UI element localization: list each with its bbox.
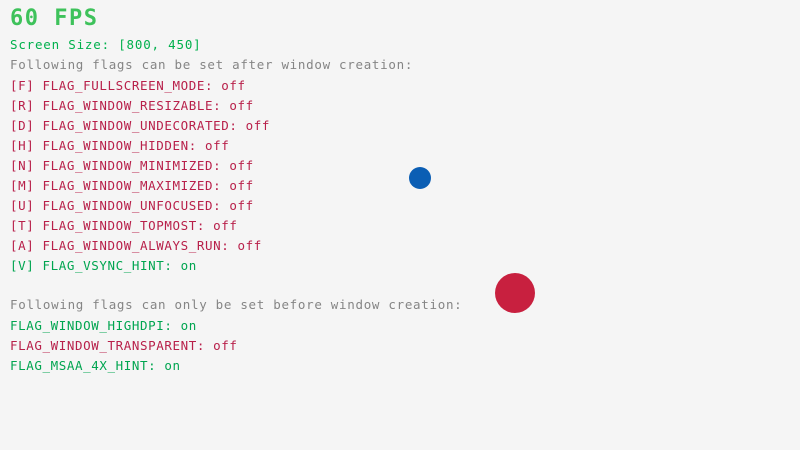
runtime-flags-header: Following flags can be set after window …	[10, 58, 413, 72]
app-canvas: 60 FPS Screen Size: [800, 450] Following…	[0, 0, 800, 450]
startup-flags-header: Following flags can only be set before w…	[10, 298, 462, 312]
flag-row-flag-window-unfocused[interactable]: [U] FLAG_WINDOW_UNFOCUSED: off	[10, 199, 254, 213]
red-circle	[495, 273, 535, 313]
flag-row-flag-window-highdpi[interactable]: FLAG_WINDOW_HIGHDPI: on	[10, 319, 197, 333]
flag-row-flag-vsync-hint[interactable]: [V] FLAG_VSYNC_HINT: on	[10, 259, 197, 273]
flag-row-flag-window-resizable[interactable]: [R] FLAG_WINDOW_RESIZABLE: off	[10, 99, 254, 113]
flag-row-flag-fullscreen-mode[interactable]: [F] FLAG_FULLSCREEN_MODE: off	[10, 79, 246, 93]
flag-row-flag-window-topmost[interactable]: [T] FLAG_WINDOW_TOPMOST: off	[10, 219, 238, 233]
fps-counter: 60 FPS	[10, 6, 98, 32]
flag-row-flag-msaa-4x-hint[interactable]: FLAG_MSAA_4X_HINT: on	[10, 359, 181, 373]
flag-row-flag-window-hidden[interactable]: [H] FLAG_WINDOW_HIDDEN: off	[10, 139, 229, 153]
flag-row-flag-window-minimized[interactable]: [N] FLAG_WINDOW_MINIMIZED: off	[10, 159, 254, 173]
flag-row-flag-window-always-run[interactable]: [A] FLAG_WINDOW_ALWAYS_RUN: off	[10, 239, 262, 253]
flag-row-flag-window-maximized[interactable]: [M] FLAG_WINDOW_MAXIMIZED: off	[10, 179, 254, 193]
flag-row-flag-window-transparent[interactable]: FLAG_WINDOW_TRANSPARENT: off	[10, 339, 238, 353]
blue-circle	[409, 167, 431, 189]
flag-row-flag-window-undecorated[interactable]: [D] FLAG_WINDOW_UNDECORATED: off	[10, 119, 270, 133]
screen-size-label: Screen Size: [800, 450]	[10, 38, 202, 52]
